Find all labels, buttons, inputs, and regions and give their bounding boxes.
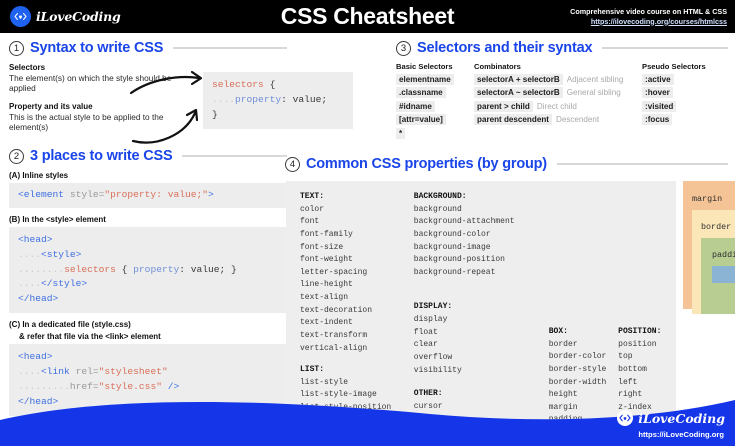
code-line-style-open: ....<style> [18,248,278,263]
selector-chip: parent > child [474,101,533,112]
right-column: 3 Selectors and their syntax Basic Selec… [396,40,728,181]
combinators-column: Combinators selectorA + selectorB Adjace… [474,62,642,141]
table-row: parent descendent Descendent [474,114,642,125]
code-attr: rel= [70,366,99,377]
table-row: :hover [642,87,728,98]
title-wrap: CSS Cheatsheet [230,3,505,30]
section-2-number: 2 [9,149,24,164]
inline-styles-label: (A) Inline styles [9,171,287,180]
heading-rule [602,47,728,49]
box-model-margin-label: margin [692,194,722,204]
group-header: POSITION: [618,326,676,339]
table-row: :visited [642,101,728,112]
heading-rule [182,155,287,157]
property-desc: This is the actual style to be applied t… [9,112,184,132]
group-header: TEXT: [300,191,414,204]
footer-brand-name: iLoveCoding [638,411,725,426]
property-item: letter-spacing [300,267,414,280]
property-item: text-indent [300,317,414,330]
box-model-diagram: margin border padding content [683,181,735,309]
page-header: iLoveCoding CSS Cheatsheet Comprehensive… [0,0,735,33]
promo-block: Comprehensive video course on HTML & CSS… [505,7,735,26]
code-tag-close: > [208,189,214,200]
property-item: border-style [549,364,618,377]
code-line: <element style="property: value;"> [18,188,278,203]
selector-chip: selectorA ~ selectorB [474,87,563,98]
property-item: overflow [414,352,549,365]
table-row: * [396,128,474,139]
property-item: border [549,339,618,352]
box-model-border: border padding content [692,210,735,314]
property-explainer: Property and its value This is the actua… [9,102,184,132]
property-item: background-color [414,229,549,242]
table-row: :focus [642,114,728,125]
footer-brand: iLoveCoding [617,410,725,426]
section-2-title: 3 places to write CSS [30,148,172,164]
selector-chip: selectorA + selectorB [474,74,563,85]
selectors-label: Selectors [9,63,184,72]
group-header: DISPLAY: [414,301,549,314]
selector-chip: :hover [642,87,673,98]
section-4-number: 4 [285,157,300,172]
selector-chip: #idname [396,101,435,112]
promo-link[interactable]: https://ilovecoding.org/courses/htmlcss [505,17,727,27]
property-item: clear [414,339,549,352]
property-item: position [618,339,676,352]
property-item: color [300,204,414,217]
style-element-code-block: <head> ....<style> ........selectors { p… [9,227,287,313]
code-attr: style= [64,189,104,200]
selector-note: Adjacent sibling [567,75,624,84]
table-row: #idname [396,101,474,112]
property-item: text-align [300,292,414,305]
code-indent: .... [18,278,41,289]
group-header: BOX: [549,326,618,339]
table-row: [attr=value] [396,114,474,125]
code-indent: .... [18,249,41,260]
dedicated-file-label-2: & refer that file via the <link> element [19,332,287,341]
table-row: elementname [396,74,474,85]
code-line-1: selectors { [212,78,344,93]
code-line-head-open: <head> [18,350,278,365]
property-item: font-family [300,229,414,242]
style-element-label: (B) In the <style> element [9,215,287,224]
code-tag: <style> [41,249,81,260]
column-header: Pseudo Selectors [642,62,728,71]
property-label: Property and its value [9,102,184,111]
code-selector: selectors [64,264,116,275]
table-row: parent > child Direct child [474,101,642,112]
section-4-heading: 4 Common CSS properties (by group) [285,156,728,172]
property-item: line-height [300,279,414,292]
basic-selectors-column: Basic Selectors elementname .classname #… [396,62,474,141]
code-line-2: ....property: value; [212,93,344,108]
property-item: background [414,204,549,217]
column-header: Basic Selectors [396,62,474,71]
section-1-heading: 1 Syntax to write CSS [9,40,287,56]
selector-chip: :active [642,74,674,85]
left-column: 1 Syntax to write CSS Selectors The elem… [9,40,287,416]
selector-chip: * [396,128,405,139]
table-row: :active [642,74,728,85]
heart-chevron-logo-icon [617,410,633,426]
selectors-explainer: Selectors The element(s) on which the st… [9,63,184,93]
selector-note: Descendent [556,115,599,124]
property-item: background-attachment [414,216,549,229]
code-tag: <link [41,366,70,377]
code-value: : value; [281,94,327,105]
selector-note: General sibling [567,88,621,97]
code-indent: ........ [18,264,64,275]
code-line-rule: ........selectors { property: value; } [18,263,278,278]
table-row: selectorA ~ selectorB General sibling [474,87,642,98]
property-item: top [618,351,676,364]
syntax-code-block: selectors { ....property: value; } [203,72,353,129]
selector-chip: [attr=value] [396,114,446,125]
table-row: .classname [396,87,474,98]
selectors-table: Basic Selectors elementname .classname #… [396,62,728,141]
property-item: text-decoration [300,305,414,318]
box-model-content: content [712,266,735,283]
group-header: LIST: [300,364,414,377]
selector-chip: :focus [642,114,672,125]
code-property: property [235,94,281,105]
code-line-style-close: ....</style> [18,277,278,292]
box-model-padding-label: padding [712,250,735,260]
selector-chip: elementname [396,74,454,85]
dedicated-file-label: (C) In a dedicated file (style.css) [9,320,287,329]
selector-chip: parent descendent [474,114,552,125]
property-item: font-size [300,242,414,255]
code-string: "property: value;" [104,189,208,200]
code-line-head-open: <head> [18,233,278,248]
box-model-padding: padding content [701,238,735,314]
section-2-heading: 2 3 places to write CSS [9,148,287,164]
code-property: property [133,264,179,275]
property-item: float [414,327,549,340]
group-header: BACKGROUND: [414,191,549,204]
code-string: "stylesheet" [99,366,168,377]
property-item: background-image [414,242,549,255]
property-item: font-weight [300,254,414,267]
property-item: background-repeat [414,267,549,280]
heading-rule [173,47,287,49]
selector-chip: .classname [396,87,446,98]
property-item: vertical-align [300,343,414,356]
page-title: CSS Cheatsheet [281,3,454,30]
code-brace: { [264,79,276,90]
property-item: font [300,216,414,229]
code-line-3: } [212,108,344,123]
promo-text: Comprehensive video course on HTML & CSS [505,7,727,17]
code-brace: { [116,264,133,275]
heading-rule [557,163,728,165]
property-item: bottom [618,364,676,377]
code-line-head-close: </head> [18,292,278,307]
footer-url[interactable]: https://iLoveCoding.org [638,430,724,439]
section-3-number: 3 [396,41,411,56]
column-header: Combinators [474,62,642,71]
brand-name: iLoveCoding [36,9,121,24]
property-item: visibility [414,365,549,378]
cheatsheet-page: iLoveCoding CSS Cheatsheet Comprehensive… [0,0,735,446]
box-model-margin: margin border padding content [683,181,735,309]
code-indent: .... [18,366,41,377]
section-4-title: Common CSS properties (by group) [306,156,547,172]
code-value: : value; } [179,264,237,275]
property-item: border-color [549,351,618,364]
code-tag: </style> [41,278,87,289]
section-1-title: Syntax to write CSS [30,40,163,56]
selector-chip: :visited [642,101,676,112]
section-3-title: Selectors and their syntax [417,40,592,56]
selector-note: Direct child [537,102,577,111]
property-item: text-transform [300,330,414,343]
inline-style-code-block: <element style="property: value;"> [9,183,287,208]
code-tag: <element [18,189,64,200]
heart-chevron-logo-icon [10,6,31,27]
table-row: selectorA + selectorB Adjacent sibling [474,74,642,85]
section-3-heading: 3 Selectors and their syntax [396,40,728,56]
property-item: background-position [414,254,549,267]
code-line-link: ....<link rel="stylesheet" [18,365,278,380]
box-model-border-label: border [701,222,731,232]
code-selector: selectors [212,79,264,90]
brand: iLoveCoding [0,6,230,27]
section-1-number: 1 [9,41,24,56]
property-item: display [414,314,549,327]
pseudo-selectors-column: Pseudo Selectors :active :hover :visited… [642,62,728,141]
code-indent: .... [212,94,235,105]
selectors-desc: The element(s) on which the style should… [9,73,184,93]
